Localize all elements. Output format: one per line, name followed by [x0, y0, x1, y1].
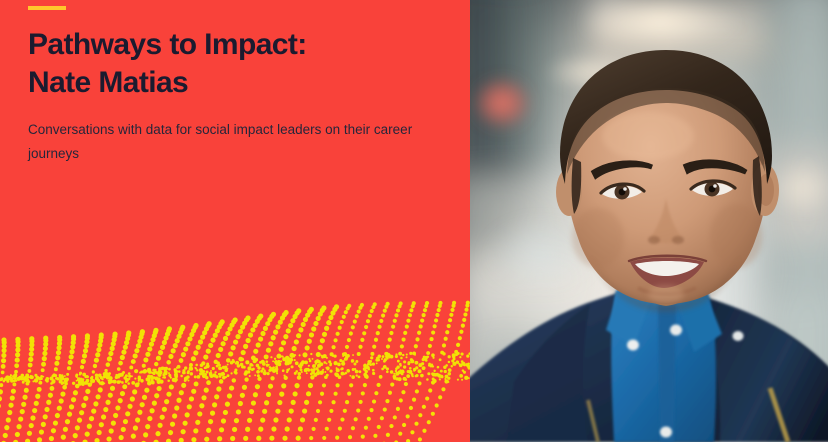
dot-wave-field-graphic [0, 282, 470, 442]
left-red-panel: Pathways to Impact: Nate Matias Conversa… [0, 0, 470, 442]
page-title: Pathways to Impact: Nate Matias [28, 26, 438, 102]
podcast-cover-poster: Pathways to Impact: Nate Matias Conversa… [0, 0, 828, 442]
title-block: Pathways to Impact: Nate Matias Conversa… [28, 26, 438, 166]
accent-bar-icon [28, 6, 66, 10]
page-subtitle: Conversations with data for social impac… [28, 118, 428, 166]
portrait-photo [470, 0, 828, 442]
